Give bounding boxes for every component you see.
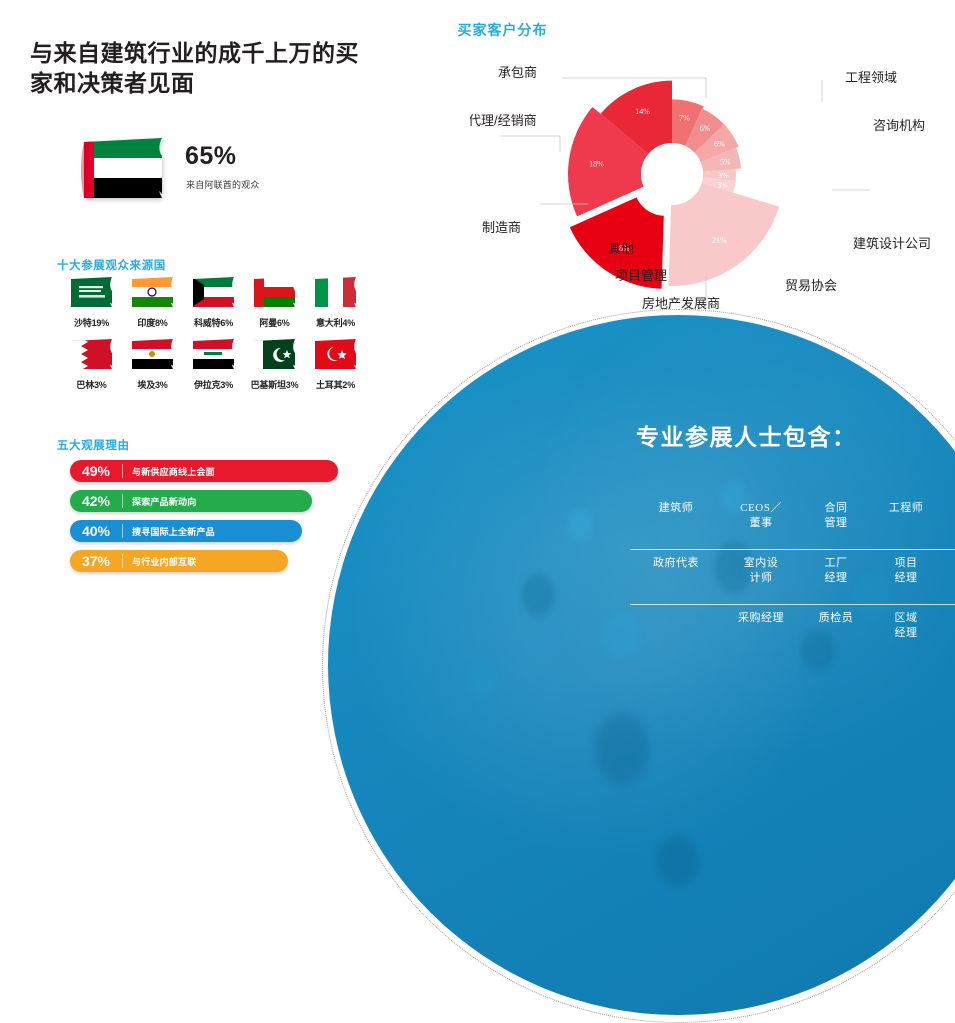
country-item-bahrain[interactable]: 巴林3%: [62, 338, 121, 400]
slice-percent-label: 6%: [700, 124, 711, 133]
italy-flag: [312, 276, 359, 313]
reason-percent: 40%: [70, 523, 122, 539]
country-label: 沙特19%: [74, 316, 109, 329]
reason-percent: 37%: [70, 553, 122, 569]
country-item-iraq[interactable]: 伊拉克3%: [184, 338, 243, 400]
reason-bar-4[interactable]: 37% 与行业内部互联: [70, 550, 288, 572]
iraq-flag: [190, 338, 237, 375]
slice-percent-label: 7%: [679, 113, 690, 122]
reason-bar-3[interactable]: 40% 搜寻国际上全新产品: [70, 520, 302, 542]
bahrain-flag: [68, 338, 115, 375]
slice-percent-label: 3%: [718, 171, 729, 180]
uae-percent: 65%: [185, 142, 237, 171]
reason-label: 与行业内部互联: [132, 555, 196, 568]
reason-label: 搜寻国际上全新产品: [132, 525, 215, 538]
slice-category-label: 代理/经销商: [470, 113, 537, 128]
slice-category-label: 其他: [608, 241, 634, 256]
country-label: 科威特6%: [194, 316, 233, 329]
professional-roles-table: 建筑师 CEOS／董事 合同管理 工程师 政府代表 室内设计师 工厂经理 项目经…: [630, 495, 955, 659]
pakistan-flag: [251, 338, 298, 375]
country-label: 伊拉克3%: [194, 378, 233, 391]
slice-percent-label: 21%: [712, 236, 727, 245]
country-item-saudi[interactable]: 沙特19%: [62, 276, 121, 338]
slice-percent-label: 3%: [717, 180, 728, 189]
india-flag: [129, 276, 176, 313]
country-item-india[interactable]: 印度8%: [123, 276, 182, 338]
reason-bar-2[interactable]: 42% 探索产品新动向: [70, 490, 312, 512]
country-item-egypt[interactable]: 埃及3%: [123, 338, 182, 400]
slice-category-label: 咨询机构: [873, 118, 925, 133]
role-cell: 质检员: [800, 611, 872, 626]
country-label: 巴林3%: [76, 378, 106, 391]
role-cell: 室内设计师: [722, 556, 800, 586]
country-item-oman[interactable]: 阿曼6%: [245, 276, 304, 338]
country-label: 阿曼6%: [259, 316, 289, 329]
infographic-canvas: 与来自建筑行业的成千上万的买家和决策者见面 65% 来自阿联酋的观众: [0, 0, 955, 671]
reason-bar-1[interactable]: 49% 与新供应商线上会面: [70, 460, 338, 482]
slice-percent-label: 6%: [714, 139, 725, 148]
role-cell: CEOS／董事: [722, 501, 800, 531]
country-item-pakistan[interactable]: 巴基斯坦3%: [245, 338, 304, 400]
reasons-section-title: 五大观展理由: [57, 437, 130, 453]
bar-separator: [122, 554, 123, 568]
uae-visitor-stat: 65% 来自阿联酋的观众: [70, 136, 330, 208]
slice-category-label: 制造商: [482, 220, 521, 235]
leader-line: [500, 136, 560, 152]
slice-category-label: 房地产发展商: [642, 296, 720, 311]
bar-separator: [122, 464, 123, 478]
reasons-bar-chart: 49% 与新供应商线上会面 42% 探索产品新动向 40% 搜寻国际上全新产品 …: [70, 460, 370, 580]
chart-title: 买家客户分布: [458, 22, 548, 38]
role-cell: 合同管理: [800, 501, 872, 531]
reason-label: 与新供应商线上会面: [132, 465, 215, 478]
page-title: 与来自建筑行业的成千上万的买家和决策者见面: [30, 38, 380, 99]
slice-category-label: 承包商: [498, 65, 537, 80]
role-cell: 工程师: [872, 501, 940, 516]
buyer-distribution-rose-chart: 7%6%6%5%3%3%21%18%18%14%工程领域咨询机构建筑设计公司贸易…: [470, 40, 955, 340]
saudi-arabia-flag: [68, 276, 115, 313]
slice-category-label: 贸易协会: [785, 278, 837, 293]
kuwait-flag: [190, 276, 237, 313]
professionals-title: 专业参展人士包含：: [636, 418, 857, 452]
oman-flag: [251, 276, 298, 313]
reason-label: 探索产品新动向: [132, 495, 196, 508]
role-cell: 采购经理: [722, 611, 800, 626]
slice-category-label: 项目管理: [615, 268, 667, 283]
role-cell: 项目经理: [872, 556, 940, 586]
role-cell: 建筑师: [630, 501, 722, 516]
slice-category-label: 工程领域: [845, 70, 897, 85]
role-row: 采购经理 质检员 区域经理: [630, 605, 955, 659]
slice-percent-label: 14%: [635, 107, 650, 116]
role-row: 建筑师 CEOS／董事 合同管理 工程师: [630, 495, 955, 550]
role-cell: 工厂经理: [800, 556, 872, 586]
slice-percent-label: 5%: [720, 157, 731, 166]
role-cell: 区域经理: [872, 611, 940, 641]
country-label: 印度8%: [137, 316, 167, 329]
uae-caption: 来自阿联酋的观众: [186, 178, 260, 191]
countries-section-title: 十大参展观众来源国: [57, 257, 166, 273]
country-label: 埃及3%: [137, 378, 167, 391]
role-row: 政府代表 室内设计师 工厂经理 项目经理: [630, 550, 955, 605]
country-label: 巴基斯坦3%: [251, 378, 299, 391]
chart-title-wrap: 买家客户分布: [0, 20, 955, 40]
reason-percent: 49%: [70, 463, 122, 479]
country-item-kuwait[interactable]: 科威特6%: [184, 276, 243, 338]
donut-hole: [641, 143, 703, 205]
bar-separator: [122, 524, 123, 538]
slice-category-label: 建筑设计公司: [853, 236, 931, 251]
role-cell: 政府代表: [630, 556, 722, 571]
bar-separator: [122, 494, 123, 508]
egypt-flag: [129, 338, 176, 375]
slice-percent-label: 18%: [589, 159, 604, 168]
reason-percent: 42%: [70, 493, 122, 509]
